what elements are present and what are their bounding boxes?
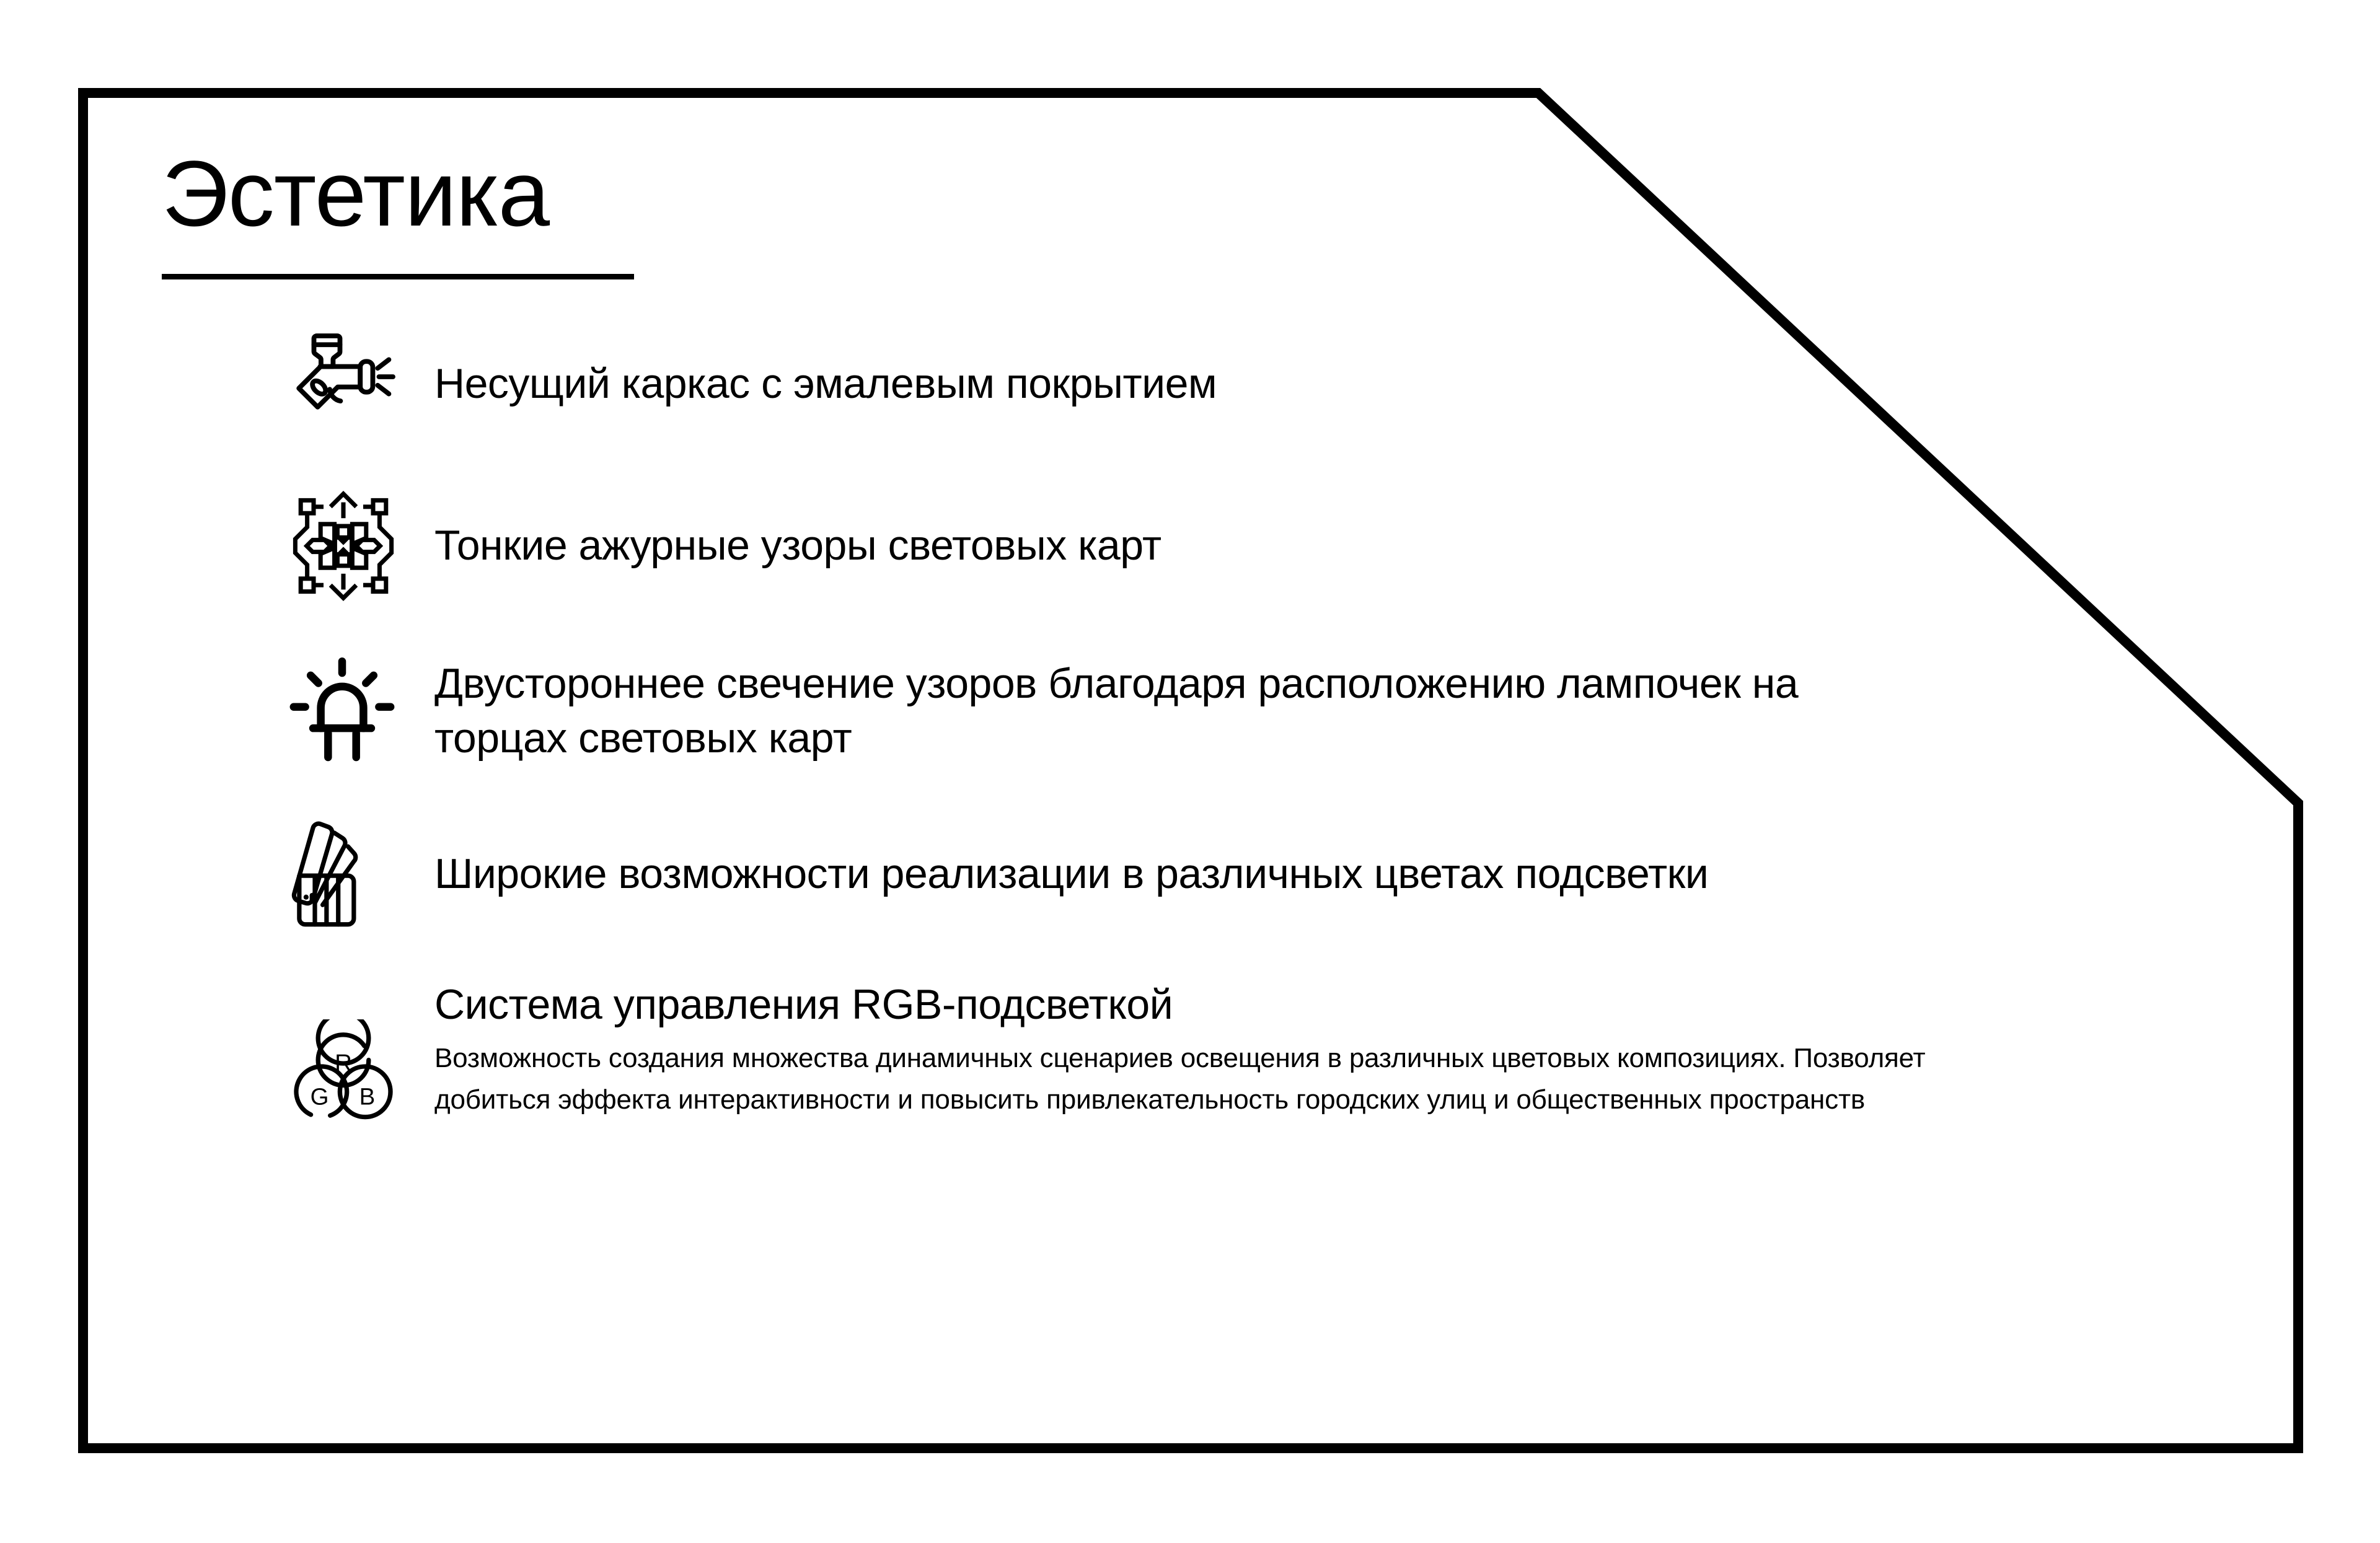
list-item: Двустороннее свечение узоров благодаря р… (289, 656, 2210, 766)
ornament-pattern-icon (289, 495, 434, 597)
title-divider (162, 274, 634, 279)
svg-text:R: R (335, 1050, 352, 1076)
list-item-label: Широкие возможности реализации в различн… (434, 846, 1891, 901)
list-item-label: Тонкие ажурные узоры световых карт (434, 518, 2210, 573)
spray-gun-icon (289, 333, 434, 435)
color-palette-icon (289, 823, 434, 925)
list-item: R G B Система управления RGB-подсветкой … (289, 978, 2210, 1128)
feature-list: Несущий каркас с эмалевым покрытием (289, 333, 2210, 1128)
list-item: Широкие возможности реализации в различн… (289, 823, 2210, 925)
title-block: Эстетика (162, 147, 634, 279)
rgb-description: Возможность создания множества динамичны… (434, 1038, 2021, 1121)
led-lamp-icon (289, 660, 434, 762)
rgb-heading: Система управления RGB-подсветкой (434, 980, 2021, 1029)
svg-text:G: G (311, 1083, 329, 1110)
rgb-venn-icon: R G B (289, 978, 434, 1128)
svg-text:B: B (359, 1083, 376, 1110)
list-item-label: Двустороннее свечение узоров благодаря р… (434, 656, 1891, 766)
slide-frame: Эстетика (78, 88, 2303, 1453)
list-item-label: Несущий каркас с эмалевым покрытием (434, 356, 2210, 411)
slide-content: Эстетика (78, 88, 2303, 1453)
list-item: Тонкие ажурные узоры световых карт (289, 495, 2210, 597)
list-item: Несущий каркас с эмалевым покрытием (289, 333, 2210, 435)
rgb-control-block: Система управления RGB-подсветкой Возмож… (434, 978, 2021, 1121)
page-title: Эстетика (162, 147, 634, 240)
